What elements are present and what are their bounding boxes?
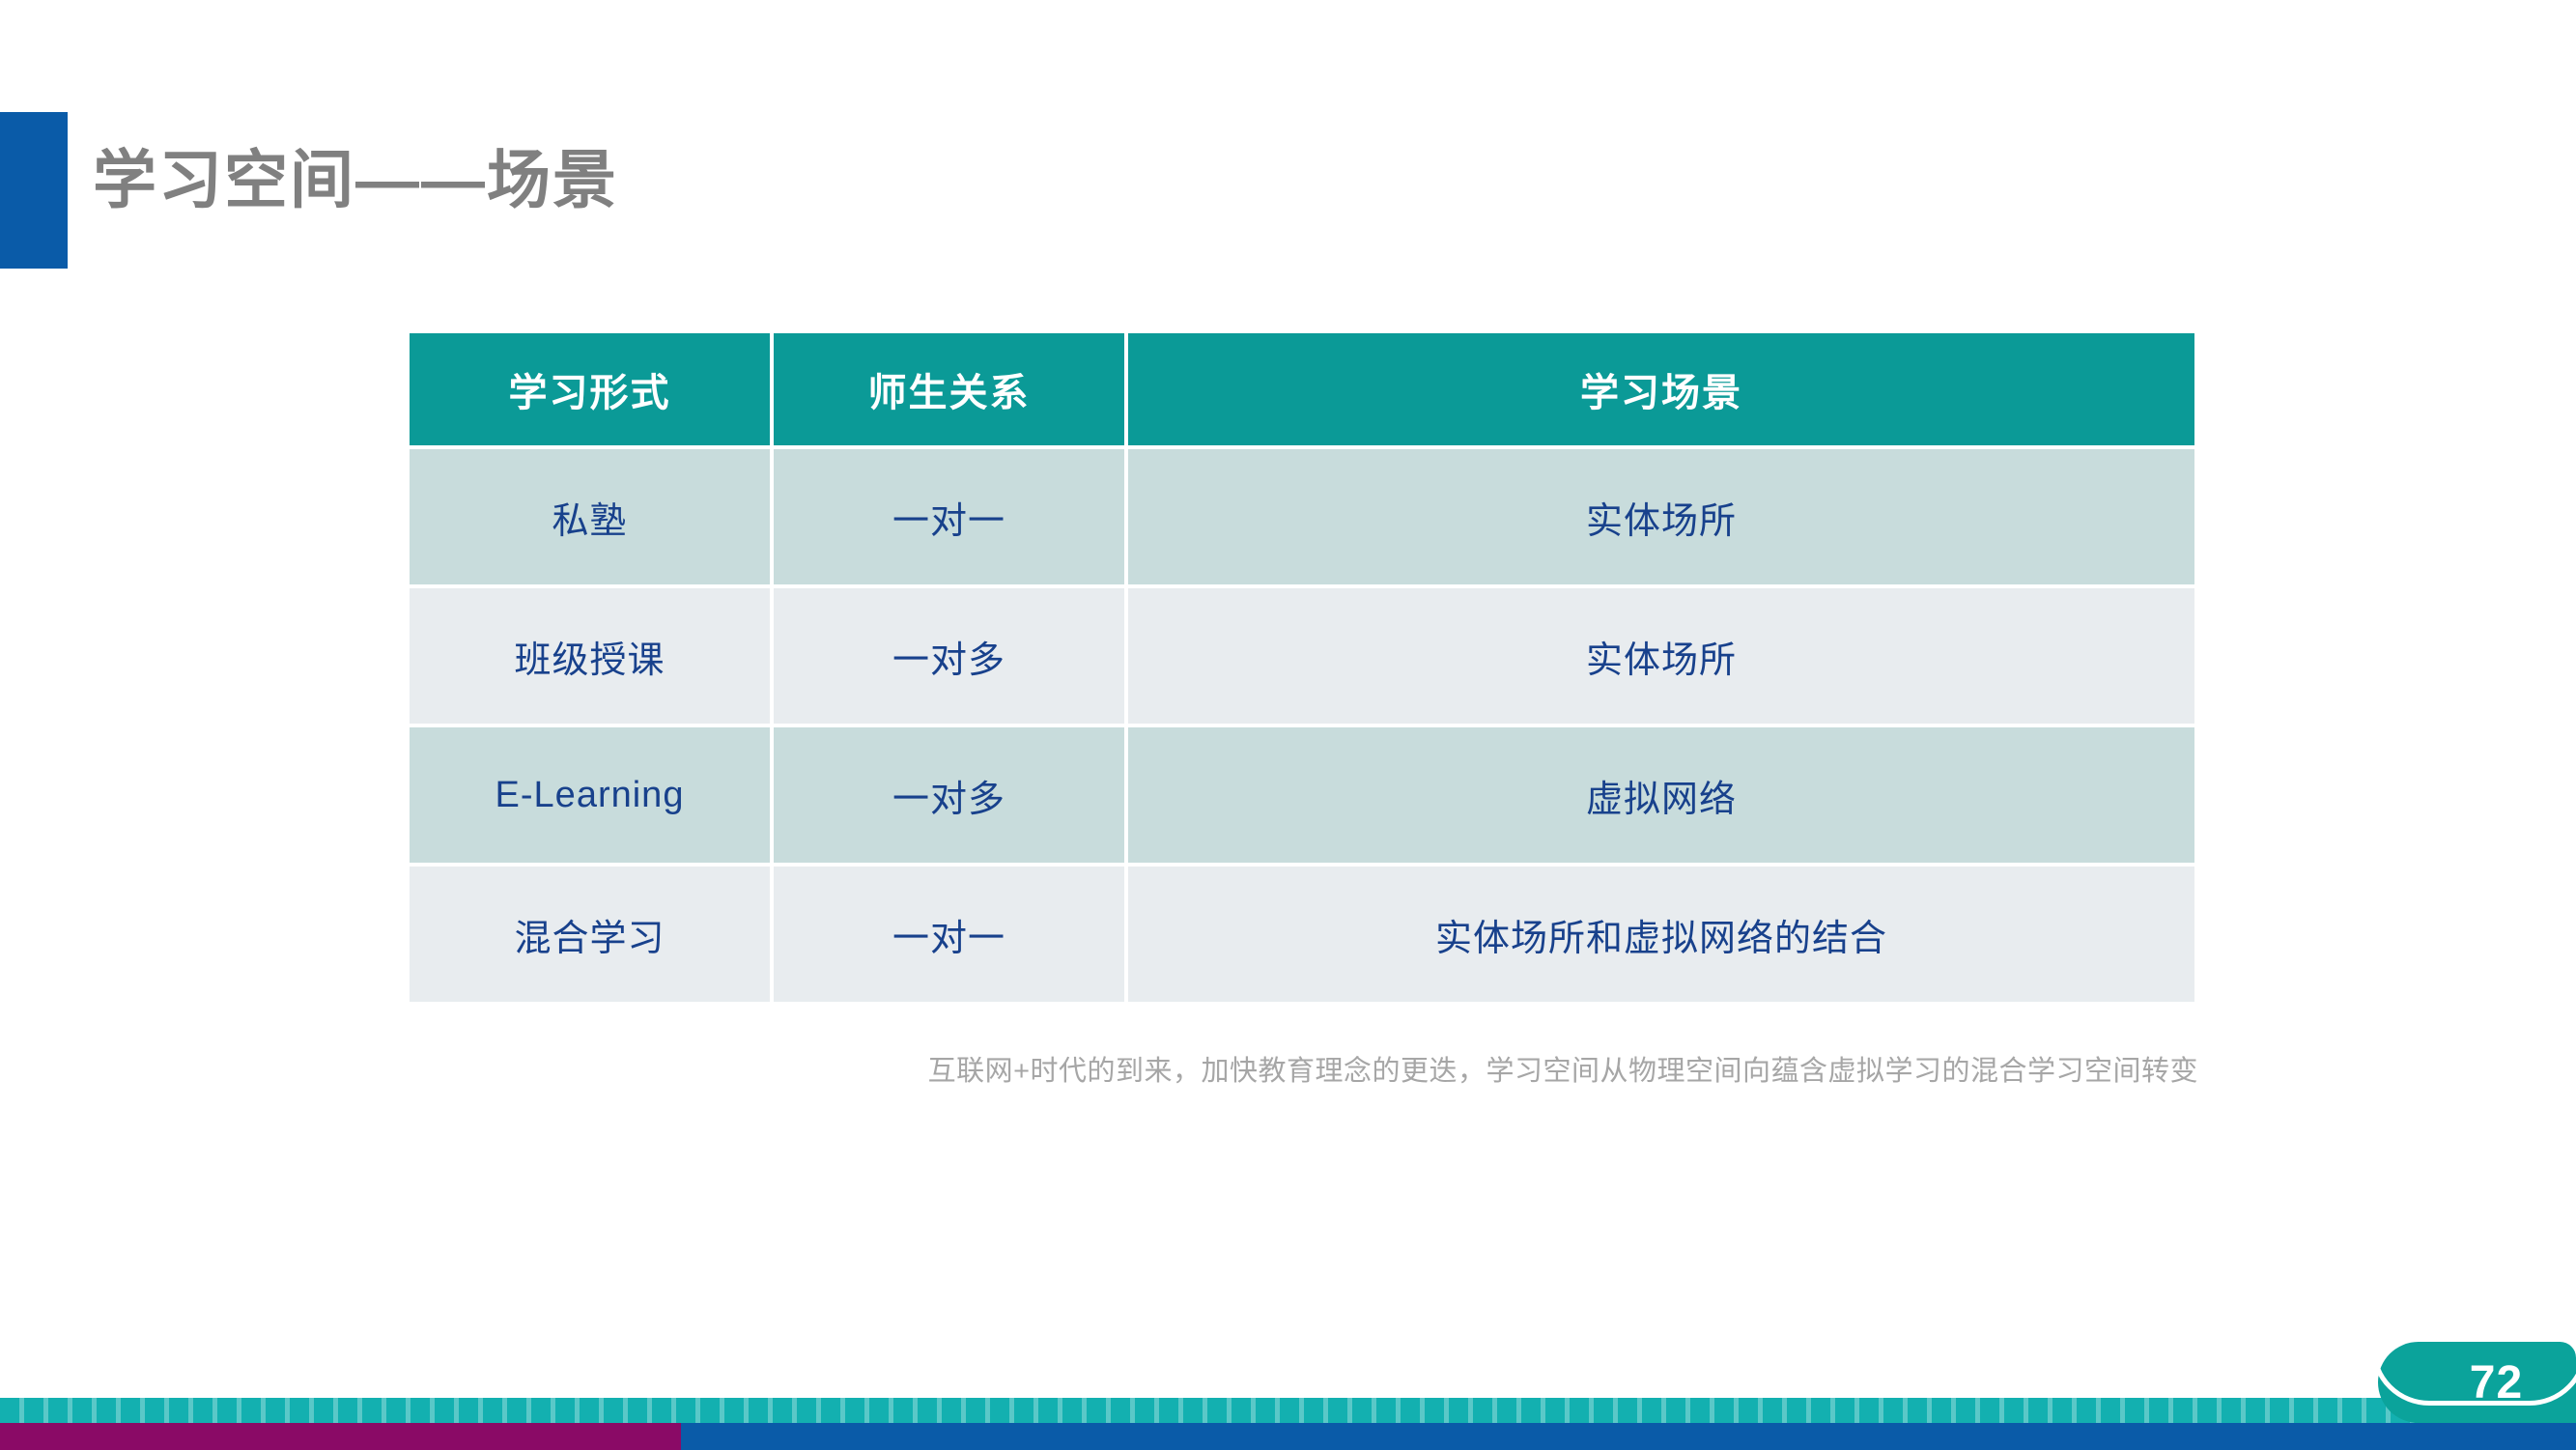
table-caption: 互联网+时代的到来，加快教育理念的更迭，学习空间从物理空间向蕴含虚拟学习的混合学…: [406, 1048, 2198, 1089]
page-title: 学习空间——场景: [93, 145, 618, 215]
cell-relation: 一对一: [774, 449, 1124, 584]
table-row: 班级授课 一对多 实体场所: [410, 588, 2194, 724]
cell-learning-form: 班级授课: [410, 588, 770, 724]
column-header-teacher-student-relation: 师生关系: [774, 333, 1124, 445]
footer-bar-blue: [681, 1423, 2576, 1450]
cell-relation: 一对多: [774, 727, 1124, 863]
column-header-learning-scene: 学习场景: [1128, 333, 2194, 445]
cell-scene: 实体场所和虚拟网络的结合: [1128, 867, 2194, 1002]
learning-scene-table: 学习形式 师生关系 学习场景 私塾 一对一 实体场所 班级授课 一对多 实体场所…: [406, 329, 2198, 1006]
page-number-label: 72: [2470, 1356, 2523, 1409]
slide-root: 学习空间——场景 学习形式 师生关系 学习场景 私塾 一对一 实体场所: [0, 0, 2576, 1450]
cell-relation: 一对多: [774, 588, 1124, 724]
cell-learning-form: 混合学习: [410, 867, 770, 1002]
cell-learning-form: 私塾: [410, 449, 770, 584]
cell-scene: 实体场所: [1128, 449, 2194, 584]
footer-stripe-bar: [0, 1398, 2576, 1423]
column-header-learning-form: 学习形式: [410, 333, 770, 445]
table-row: E-Learning 一对多 虚拟网络: [410, 727, 2194, 863]
table-row: 私塾 一对一 实体场所: [410, 449, 2194, 584]
page-number-badge: 72: [2378, 1342, 2576, 1423]
cell-learning-form: E-Learning: [410, 727, 770, 863]
cell-scene: 虚拟网络: [1128, 727, 2194, 863]
table-header-row: 学习形式 师生关系 学习场景: [410, 333, 2194, 445]
title-accent-block: [0, 112, 68, 269]
table-row: 混合学习 一对一 实体场所和虚拟网络的结合: [410, 867, 2194, 1002]
footer-bar-purple: [0, 1423, 681, 1450]
cell-scene: 实体场所: [1128, 588, 2194, 724]
scene-table-wrapper: 学习形式 师生关系 学习场景 私塾 一对一 实体场所 班级授课 一对多 实体场所…: [406, 329, 2198, 1006]
cell-relation: 一对一: [774, 867, 1124, 1002]
